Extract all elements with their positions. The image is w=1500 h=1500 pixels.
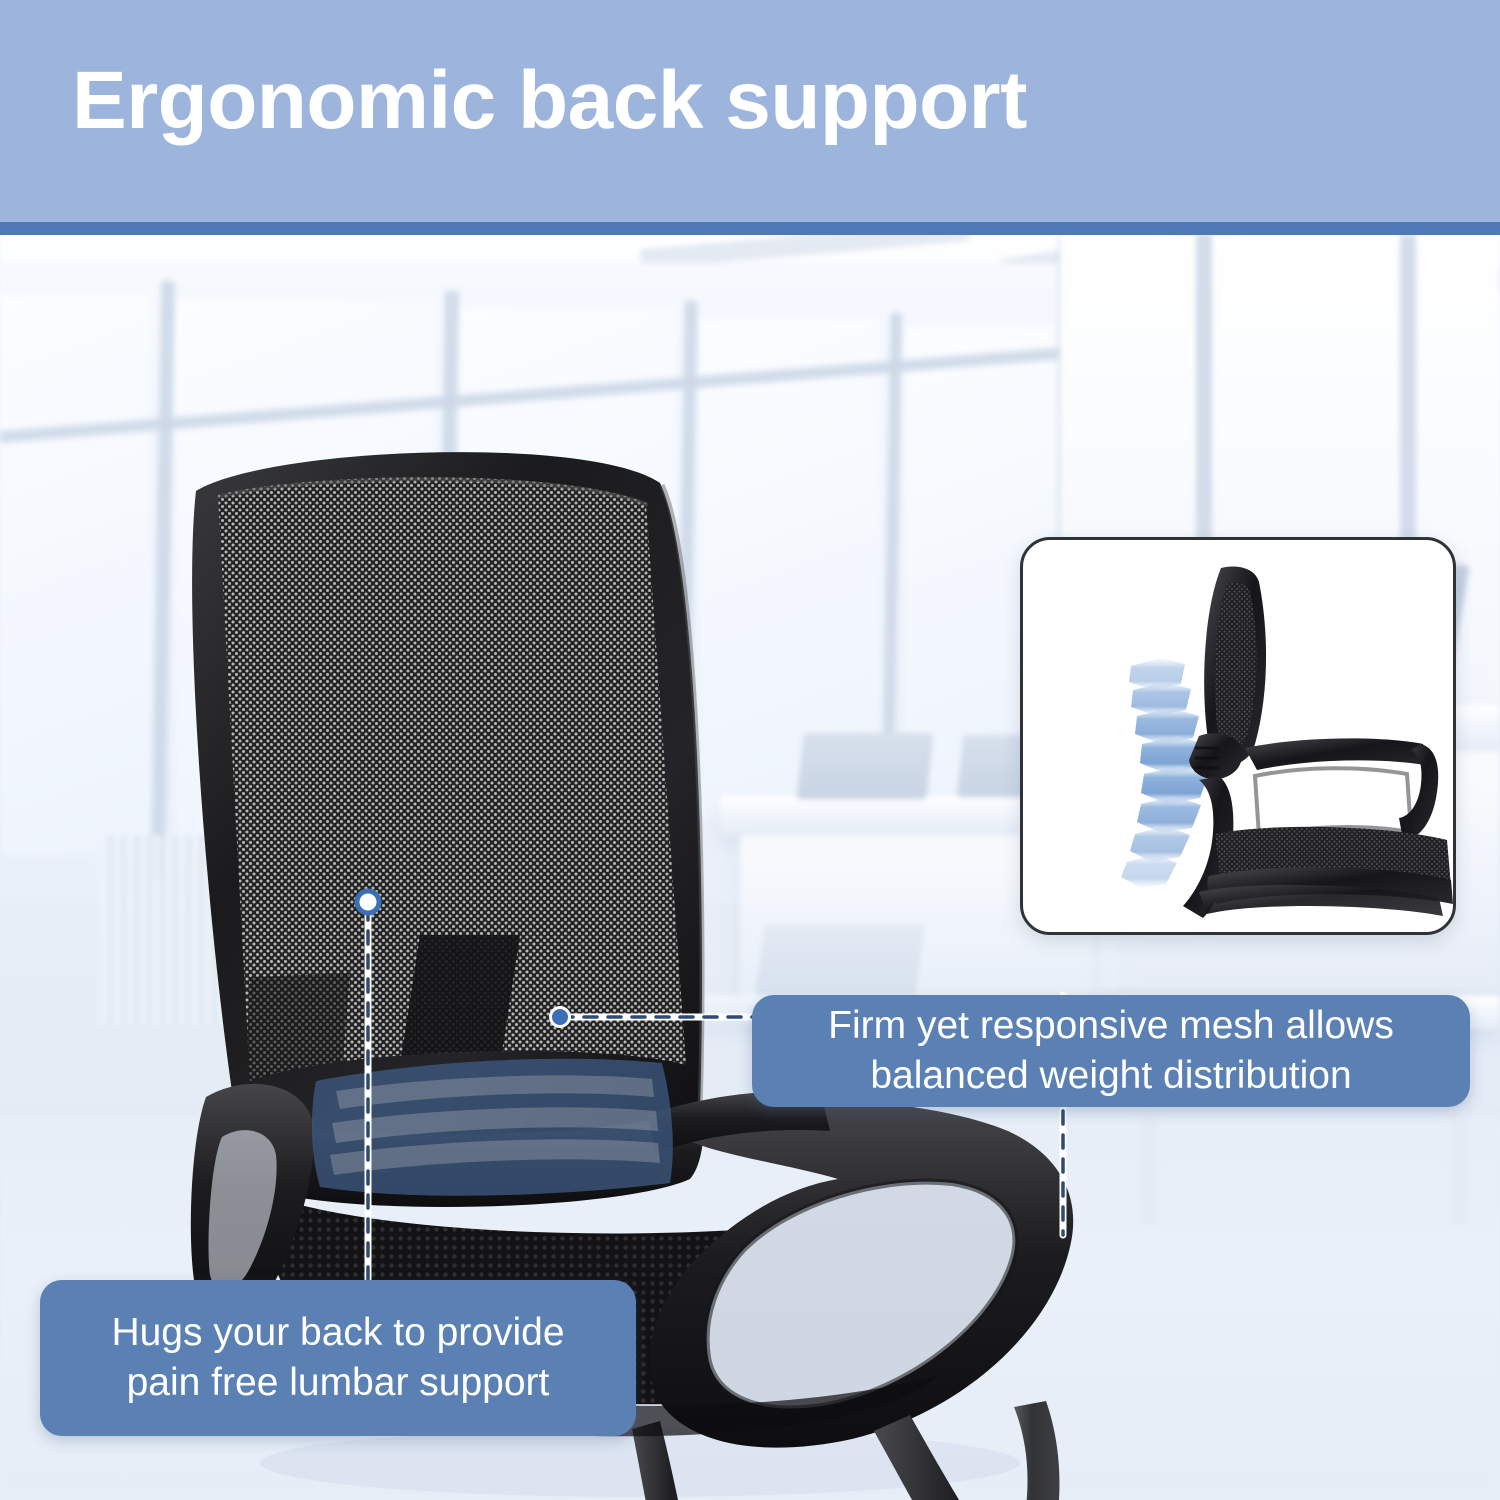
page-title: Ergonomic back support bbox=[72, 58, 1372, 144]
inset-detail-panel bbox=[1020, 537, 1456, 935]
chair-leg-rear bbox=[1014, 1401, 1060, 1500]
header-divider-rule bbox=[0, 222, 1500, 235]
callout-lumbar-line2: pain free lumbar support bbox=[127, 1361, 550, 1404]
callout-mesh-line2: balanced weight distribution bbox=[870, 1054, 1351, 1097]
callout-mesh: Firm yet responsive mesh allows balanced… bbox=[752, 995, 1470, 1107]
callout-lumbar: Hugs your back to provide pain free lumb… bbox=[40, 1280, 636, 1436]
callout-lumbar-line1: Hugs your back to provide bbox=[111, 1311, 564, 1354]
lumbar-support-highlight bbox=[312, 1059, 673, 1196]
callout-mesh-line1: Firm yet responsive mesh allows bbox=[828, 1004, 1394, 1047]
spine-vertebrae-graphic bbox=[1121, 658, 1208, 888]
product-feature-image: Ergonomic back support bbox=[0, 0, 1500, 1500]
